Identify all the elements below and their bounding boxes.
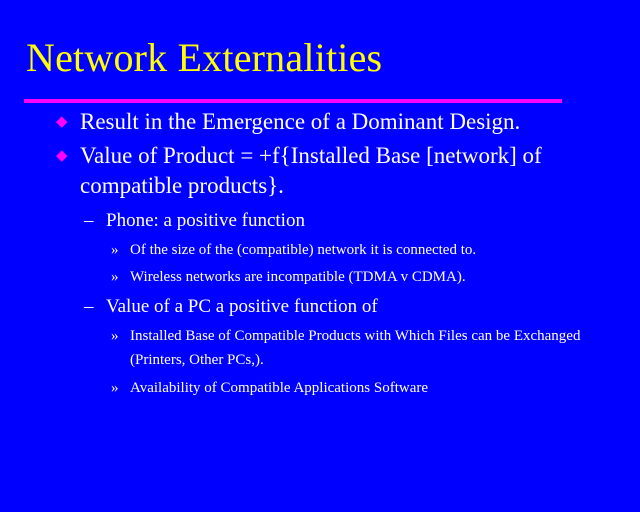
diamond-bullet-icon: ◆ bbox=[56, 141, 80, 171]
dash-bullet-icon: – bbox=[84, 207, 106, 234]
dash-bullet-icon: – bbox=[84, 293, 106, 320]
guillemet-bullet-icon: » bbox=[111, 238, 130, 262]
diamond-bullet-icon: ◆ bbox=[56, 107, 80, 137]
bullet-level3-item: » Wireless networks are incompatible (TD… bbox=[111, 265, 640, 289]
bullet-text: Value of Product = +f{Installed Base [ne… bbox=[80, 141, 592, 201]
guillemet-bullet-icon: » bbox=[111, 376, 130, 400]
bullet-text: Availability of Compatible Applications … bbox=[130, 376, 600, 400]
bullet-level2-item: – Phone: a positive function bbox=[84, 207, 640, 234]
slide-body: ◆ Result in the Emergence of a Dominant … bbox=[0, 107, 640, 401]
guillemet-bullet-icon: » bbox=[111, 324, 130, 348]
guillemet-bullet-icon: » bbox=[111, 265, 130, 289]
bullet-level3-item: » Of the size of the (compatible) networ… bbox=[111, 238, 640, 262]
bullet-text: Wireless networks are incompatible (TDMA… bbox=[130, 265, 600, 289]
bullet-level2-item: – Value of a PC a positive function of bbox=[84, 293, 640, 320]
bullet-text: Value of a PC a positive function of bbox=[106, 293, 576, 320]
bullet-text: Phone: a positive function bbox=[106, 207, 576, 234]
title-divider-rule bbox=[24, 99, 562, 103]
bullet-text: Of the size of the (compatible) network … bbox=[130, 238, 600, 262]
title-block: Network Externalities bbox=[26, 34, 626, 82]
bullet-text: Result in the Emergence of a Dominant De… bbox=[80, 107, 592, 137]
page-title: Network Externalities bbox=[26, 34, 626, 82]
presentation-slide: Network Externalities ◆ Result in the Em… bbox=[0, 0, 640, 512]
bullet-text: Installed Base of Compatible Products wi… bbox=[130, 324, 600, 372]
bullet-level3-item: » Installed Base of Compatible Products … bbox=[111, 324, 640, 372]
bullet-level1-item: ◆ Value of Product = +f{Installed Base [… bbox=[56, 141, 640, 201]
bullet-level3-item: » Availability of Compatible Application… bbox=[111, 376, 640, 400]
bullet-level1-item: ◆ Result in the Emergence of a Dominant … bbox=[56, 107, 640, 137]
